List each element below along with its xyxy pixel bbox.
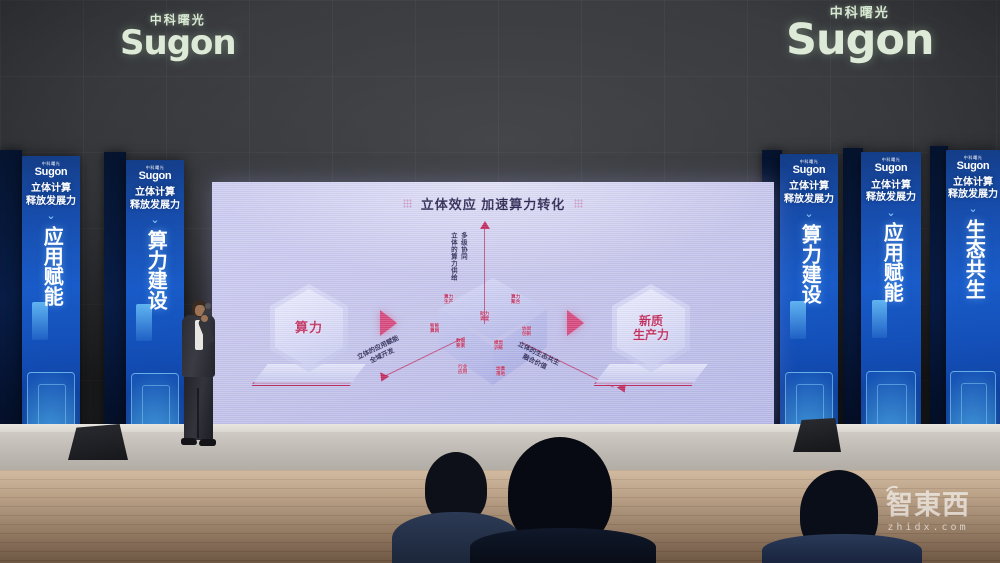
banner-highlight-bar (790, 301, 805, 339)
watermark-url: zhidx.com (866, 522, 990, 533)
banner-tagline-line1: 立体计算 (861, 180, 921, 193)
banner-tagline: 立体计算 释放发展力 (126, 187, 184, 212)
banner-logo-cn: 中科曙光 (22, 161, 80, 167)
banner-highlight-bar (32, 302, 47, 340)
node-label-line1: 新质 (633, 314, 669, 328)
banner-tagline: 立体计算 释放发展力 (780, 181, 838, 206)
presenter-person (175, 300, 221, 450)
cube-label: 算力 生产 (444, 294, 453, 305)
banner-edge-dark-left-1 (0, 150, 22, 450)
banner-logo-en: Sugon (946, 161, 1000, 172)
banner-keyword: 生态共生 (962, 219, 984, 299)
led-presentation-screen: 立体效应 加速算力转化 算力 算力 生产 算力 聚合 助力 调度 智能 算网 数… (212, 182, 774, 432)
cube-label: 行业 应用 (458, 364, 467, 375)
microphone-head (205, 303, 211, 309)
arrow-right-icon-right (567, 310, 584, 336)
chevron-down-icon: ⌄ (780, 209, 838, 220)
banner-tagline: 立体计算 释放发展力 (861, 180, 921, 205)
sugon-logo-en: Sugon (120, 27, 236, 59)
banner-panel-compute-construction-right: 中科曙光 Sugon 立体计算 释放发展力 ⌄ 算力建设 (780, 154, 838, 448)
banner-tagline-line1: 立体计算 (780, 181, 838, 194)
banner-tagline-line2: 释放发展力 (22, 196, 80, 209)
banner-highlight-bar (872, 300, 888, 338)
banner-logo: 中科曙光 Sugon (861, 157, 921, 174)
banner-logo-en: Sugon (126, 171, 184, 182)
sugon-logo-en: Sugon (786, 20, 934, 61)
node-new-quality-productive-forces: 新质 生产力 (612, 284, 690, 372)
banner-panel-ecosystem-symbiosis: 中科曙光 Sugon 立体计算 释放发展力 ⌄ 生态共生 (946, 150, 1000, 448)
banner-panel-application-empowerment: 中科曙光 Sugon 立体计算 释放发展力 ⌄ 应用赋能 (22, 156, 80, 448)
banner-tagline: 立体计算 释放发展力 (946, 177, 1000, 202)
audience-shoulders-2 (470, 528, 656, 563)
node-compute-power: 算力 (270, 284, 348, 372)
presenter-leg-split (197, 388, 199, 438)
banner-logo: 中科曙光 Sugon (946, 155, 1000, 172)
vertical-axis-line (484, 228, 485, 324)
sugon-wall-logo-right: 中科曙光 Sugon (786, 6, 934, 61)
banner-logo-cn: 中科曙光 (946, 155, 1000, 161)
banner-tagline: 立体计算 释放发展力 (22, 183, 80, 208)
cube-label: 智能 算网 (430, 323, 439, 334)
arrow-right-icon-left (380, 310, 397, 336)
banner-logo-cn: 中科曙光 (780, 159, 838, 165)
banner-logo-cn: 中科曙光 (126, 165, 184, 171)
chevron-down-icon: ⌄ (126, 215, 184, 226)
chevron-down-icon: ⌄ (22, 211, 80, 222)
presenter-shoe-left (181, 438, 197, 445)
node-plinth-shadow (252, 380, 355, 386)
left-diagonal-label: 立体的应用赋能 全域开发 (356, 334, 405, 371)
banner-keyword: 算力建设 (798, 224, 820, 304)
banner-tagline-line2: 释放发展力 (861, 192, 921, 205)
node-label: 算力 (295, 320, 323, 335)
cube-label: 模型 训练 (494, 340, 503, 351)
hexagon-shape: 新质 生产力 (612, 284, 690, 372)
banner-edge-dark-left-2 (104, 152, 126, 448)
banner-tagline-line1: 立体计算 (22, 183, 80, 196)
banner-tagline-line2: 释放发展力 (946, 189, 1000, 202)
slide-title-row: 立体效应 加速算力转化 (212, 194, 774, 213)
stage-monitor-speaker-left (68, 424, 128, 460)
cube-label: 算力 聚合 (511, 294, 520, 305)
vertical-axis-label-2: 多级协同 (458, 232, 467, 260)
node-label-line2: 生产力 (633, 328, 669, 342)
banner-logo: 中科曙光 Sugon (22, 161, 80, 178)
banner-edge-dark-right-2 (843, 148, 863, 450)
banner-logo-en: Sugon (861, 163, 921, 174)
node-plinth-shadow (594, 380, 697, 386)
sugon-wall-logo-left: 中科曙光 Sugon (120, 14, 236, 59)
banner-logo-en: Sugon (22, 167, 80, 178)
dot-grid-icon-left (403, 199, 412, 208)
presenter-shoe-right (199, 439, 216, 446)
banner-tagline-line2: 释放发展力 (126, 200, 184, 213)
hexagon-shape: 算力 (270, 284, 348, 372)
banner-panel-application-empowerment-right: 中科曙光 Sugon 立体计算 释放发展力 ⌄ 应用赋能 (861, 152, 921, 448)
cube-label: 场景 落地 (496, 366, 505, 377)
banner-logo-cn: 中科曙光 (861, 157, 921, 163)
chevron-down-icon: ⌄ (946, 204, 1000, 215)
vertical-axis-label-1: 立体的算力供给 (448, 232, 457, 281)
banner-keyword: 应用赋能 (40, 226, 62, 306)
banner-tagline-line1: 立体计算 (126, 187, 184, 200)
page-title: 立体效应 加速算力转化 (421, 194, 566, 213)
banner-keyword: 应用赋能 (880, 222, 902, 302)
banner-keyword: 算力建设 (144, 230, 166, 310)
arrow-up-icon (480, 221, 490, 229)
presenter-hand (201, 315, 208, 322)
banner-tagline-line1: 立体计算 (946, 177, 1000, 190)
dot-grid-icon-right (574, 199, 583, 208)
cube-label: 协同 创新 (522, 326, 531, 337)
banner-tagline-line2: 释放发展力 (780, 194, 838, 207)
isometric-cube-diagram: 算力 生产 算力 聚合 助力 调度 智能 算网 数据 要素 行业 应用 模型 训… (434, 278, 552, 398)
node-label: 新质 生产力 (633, 314, 669, 342)
banner-logo-en: Sugon (780, 165, 838, 176)
banner-logo: 中科曙光 Sugon (126, 165, 184, 182)
chevron-down-icon: ⌄ (861, 208, 921, 219)
zhidx-watermark: 智東西 zhidx.com (866, 492, 990, 554)
banner-logo: 中科曙光 Sugon (780, 159, 838, 176)
conference-stage-photo: 中科曙光 Sugon 中科曙光 Sugon 中科曙光 Sugon 立体计算 释放… (0, 0, 1000, 563)
